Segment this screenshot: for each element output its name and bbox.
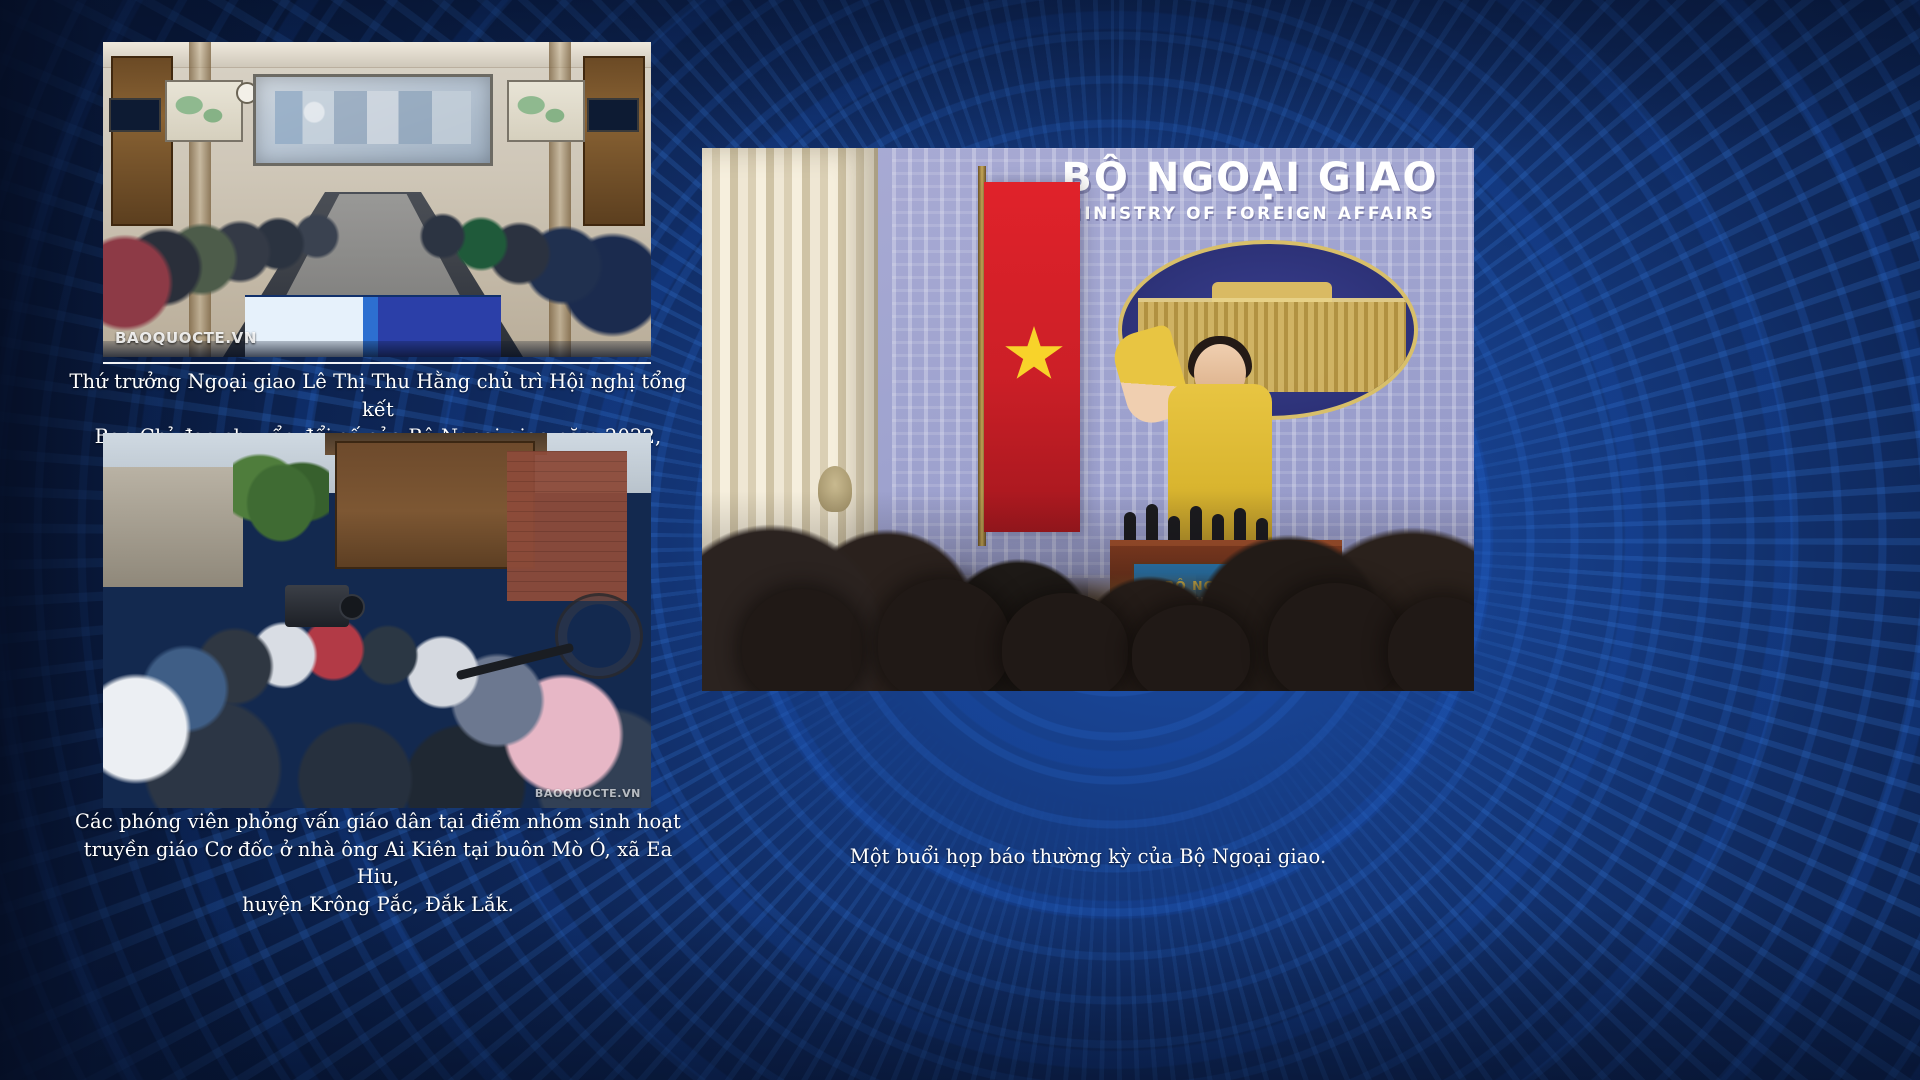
wall-map-right [507, 80, 585, 142]
collage-stage: BAOQUOCTE.VN Thứ trưởng Ngoại giao Lê Th… [0, 0, 1920, 1080]
caption-line: truyền giáo Cơ đốc ở nhà ông Ai Kiên tại… [60, 836, 696, 891]
caption-reporters-interview: Các phóng viên phỏng vấn giáo dân tại đi… [60, 808, 696, 919]
banner-subtitle: MINISTRY OF FOREIGN AFFAIRS [1040, 204, 1460, 224]
photo-reporters-interview: BAOQUOCTE.VN [103, 433, 651, 808]
caption-rule-1 [103, 362, 651, 364]
reporter-crowd [103, 525, 651, 808]
projector-screen [253, 74, 493, 166]
caption-line: huyện Krông Pắc, Đắk Lắk. [60, 891, 696, 919]
caption-line: Các phóng viên phỏng vấn giáo dân tại đi… [60, 808, 696, 836]
wall-monitor-right [587, 98, 639, 132]
video-camera [285, 585, 349, 627]
audience-head [1132, 605, 1250, 691]
wall-monitor-left [109, 98, 161, 132]
audience-head [1268, 583, 1402, 691]
audience-head [1002, 593, 1128, 691]
photo-press-conference: BỘ NGOẠI GIAO MINISTRY OF FOREIGN AFFAIR… [702, 148, 1474, 691]
caption-press-conference: Một buổi họp báo thường kỳ của Bộ Ngoại … [702, 843, 1474, 871]
caption-line: Một buổi họp báo thường kỳ của Bộ Ngoại … [702, 843, 1474, 871]
photo-conference-room: BAOQUOCTE.VN [103, 42, 651, 357]
audience-head [878, 579, 1010, 691]
wall-map-left [165, 80, 243, 142]
audience-head [742, 589, 862, 691]
banner-title: BỘ NGOẠI GIAO [1040, 158, 1460, 198]
photo-bottom-shade [103, 341, 651, 357]
caption-line: Thứ trưởng Ngoại giao Lê Thị Thu Hằng ch… [60, 368, 696, 423]
